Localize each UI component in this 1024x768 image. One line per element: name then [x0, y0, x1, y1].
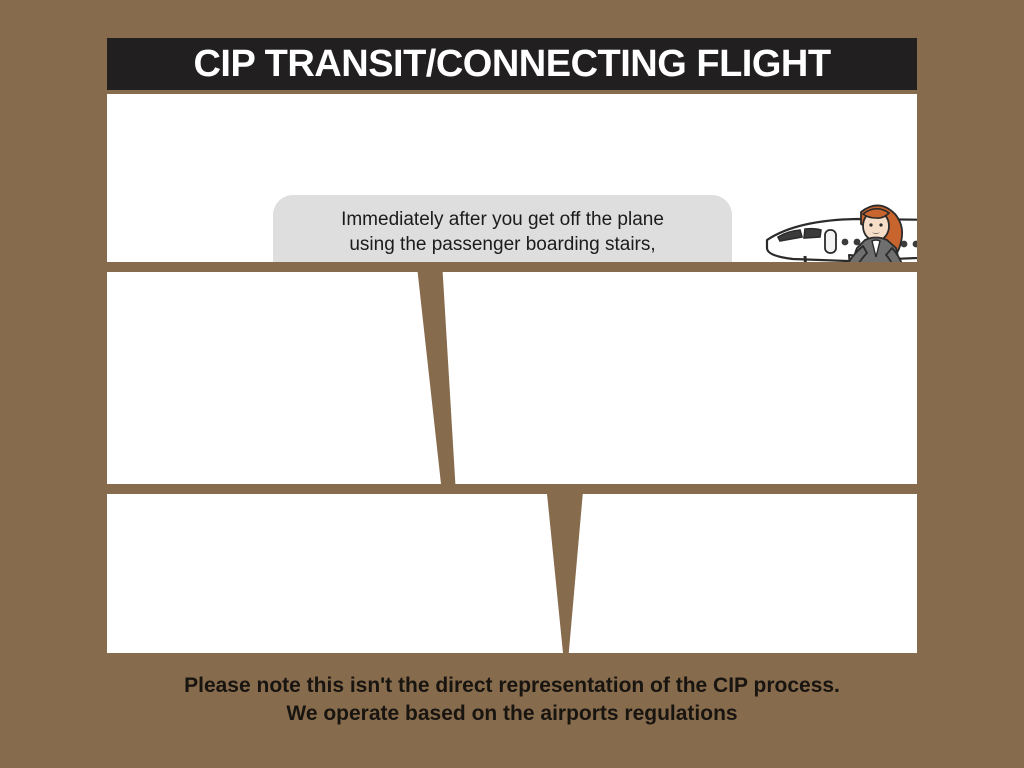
step-panel-1: Immediately after you get off the plane …	[107, 94, 917, 262]
footer-disclaimer: Please note this isn't the direct repres…	[0, 672, 1024, 727]
step-panel-5: Enjoy the CIP lounge till your departure…	[567, 494, 917, 653]
step-panel-2: DOE CIP representative located on your l…	[107, 272, 441, 484]
cip-transit-infographic: CIP TRANSIT/CONNECTING FLIGHT	[0, 0, 1024, 768]
step-panel-3: Walk towards them and introduce yourself…	[428, 272, 917, 484]
step-1-bubble: Immediately after you get off the plane …	[273, 195, 732, 262]
step-panel-4: The greeter escorts you to a luxurious c…	[107, 494, 563, 653]
step-1-text: Immediately after you get off the plane …	[323, 207, 682, 262]
page-title: CIP TRANSIT/CONNECTING FLIGHT	[193, 45, 830, 83]
page-title-bar: CIP TRANSIT/CONNECTING FLIGHT	[107, 38, 917, 90]
woman-deplaning-airstairs-illustration	[753, 190, 917, 262]
